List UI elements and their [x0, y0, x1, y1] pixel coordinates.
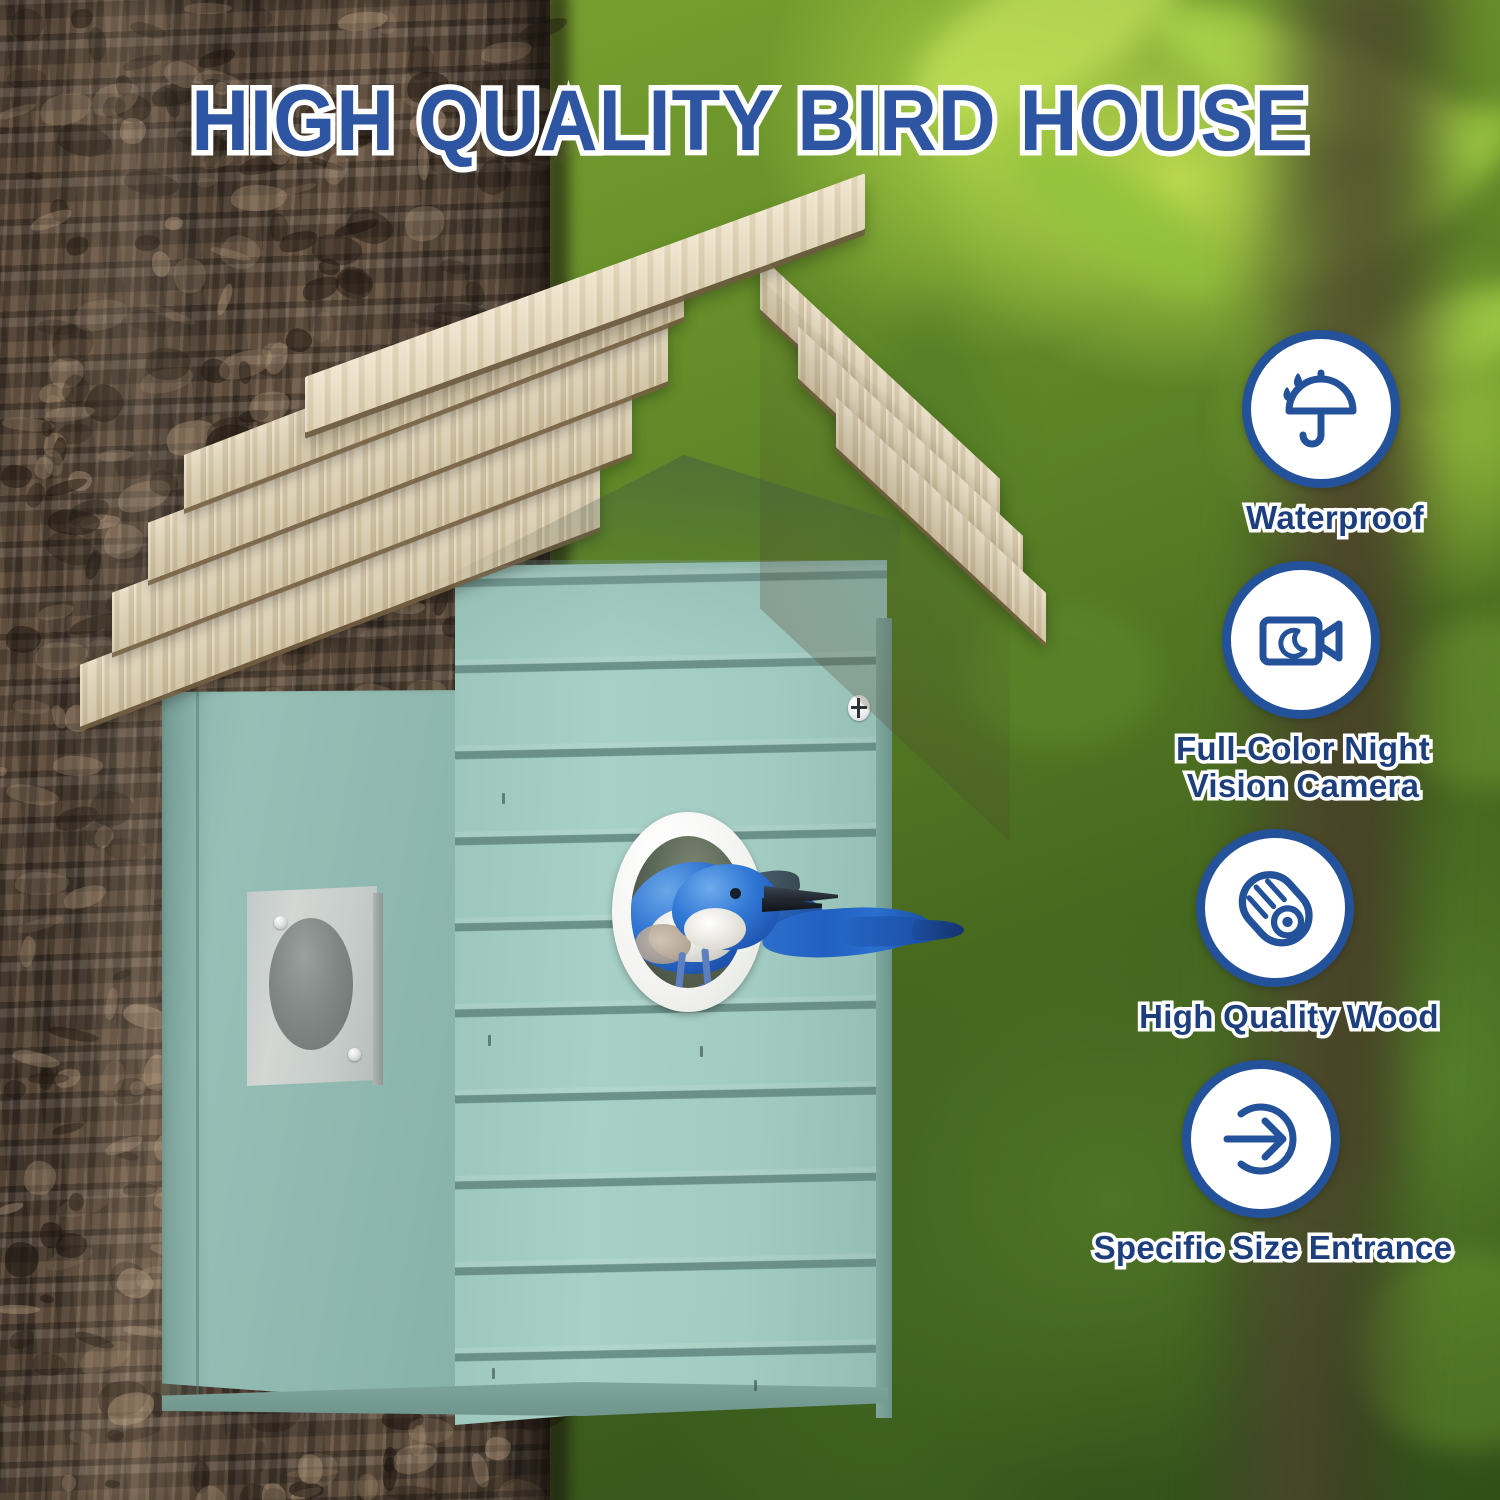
feature-night-vision-camera: Full-Color Night Vision Camera	[1010, 561, 1490, 805]
feature-label: Specific Size Entrance	[1056, 1230, 1490, 1267]
arrow-into-circle-icon	[1182, 1060, 1340, 1218]
page-title: HIGH QUALITY BIRD HOUSE	[53, 72, 1448, 171]
night-vision-camera-icon	[1222, 561, 1380, 719]
wood-log-icon	[1196, 829, 1354, 987]
siding-nail	[502, 793, 505, 804]
product-marketing-image: HIGH QUALITY BIRD HOUSE	[0, 0, 1500, 1500]
camera-aperture	[269, 918, 353, 1050]
siding-nail	[700, 1046, 703, 1057]
feature-label: Waterproof	[1180, 500, 1490, 537]
siding-nail	[492, 1368, 495, 1379]
house-side-seam	[196, 692, 199, 1404]
bird-eye	[730, 888, 741, 899]
bird-scrub-jay	[612, 812, 972, 1022]
feature-waterproof: Waterproof	[1010, 330, 1490, 537]
bird-cheek	[684, 908, 746, 950]
feature-list: Waterproof Full-Color Night Vision Camer…	[1010, 330, 1490, 1291]
feature-label: High Quality Wood	[1088, 999, 1490, 1036]
camera-plate-edge	[373, 893, 383, 1085]
umbrella-rain-icon	[1242, 330, 1400, 488]
house-roof	[60, 275, 1020, 725]
feature-specific-size-entrance: Specific Size Entrance	[1010, 1060, 1490, 1267]
feature-label: Full-Color Night Vision Camera	[1116, 731, 1490, 805]
feature-high-quality-wood: High Quality Wood	[1010, 829, 1490, 1036]
plate-screw-icon	[274, 916, 287, 929]
plate-screw-icon	[348, 1048, 361, 1061]
siding-nail	[488, 1035, 491, 1046]
house-side-shadow	[162, 690, 210, 1406]
siding-nail	[754, 1380, 757, 1391]
bird-tail-tip	[912, 920, 964, 940]
bird-house-product	[0, 0, 1060, 1500]
